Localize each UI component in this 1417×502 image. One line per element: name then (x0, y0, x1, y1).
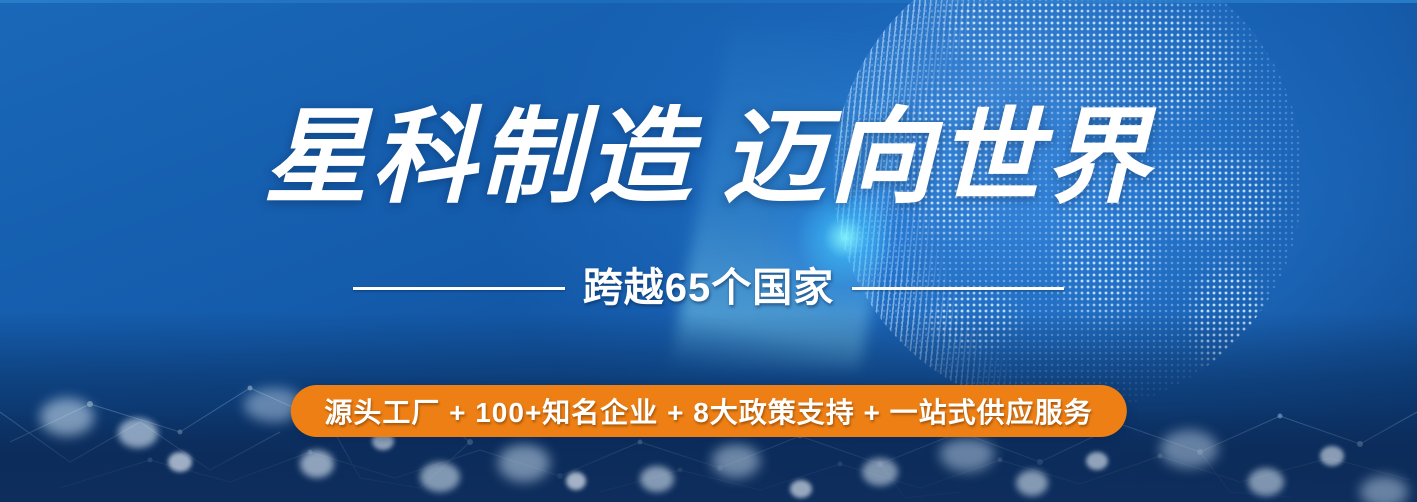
title-left: 星科制造 (263, 101, 695, 216)
page-title: 星科制造迈向世界 (0, 104, 1417, 214)
subtitle-row: 跨越65个国家 (0, 268, 1417, 308)
highlights-pill-label: 源头工厂 + 100+知名企业 + 8大政策支持 + 一站式供应服务 (324, 391, 1092, 431)
banner-content: 星科制造迈向世界 跨越65个国家 源头工厂 + 100+知名企业 + 8大政策支… (0, 0, 1417, 502)
promo-banner: 星科制造迈向世界 跨越65个国家 源头工厂 + 100+知名企业 + 8大政策支… (0, 0, 1417, 502)
horizontal-rule-right-icon (852, 287, 1064, 290)
highlights-pill[interactable]: 源头工厂 + 100+知名企业 + 8大政策支持 + 一站式供应服务 (290, 385, 1126, 437)
horizontal-rule-left-icon (353, 287, 565, 290)
title-right: 迈向世界 (722, 101, 1154, 216)
subtitle: 跨越65个国家 (583, 268, 835, 308)
